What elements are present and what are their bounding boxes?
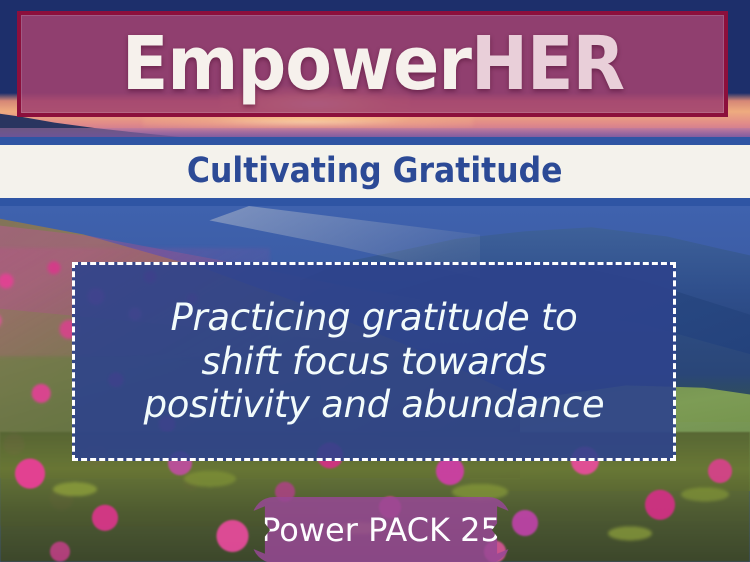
brand-wordmark: EmpowerHER xyxy=(121,27,623,101)
power-pack-label: Power PACK 25 xyxy=(261,514,501,546)
quote-text: Practicing gratitude to shift focus towa… xyxy=(144,296,605,427)
slide-canvas: EmpowerHER Cultivating Gratitude Practic… xyxy=(0,0,750,562)
brand-word-empower: Empower xyxy=(121,21,470,107)
brand-word-her: HER xyxy=(470,21,623,107)
subtitle-text: Cultivating Gratitude xyxy=(187,154,563,189)
brand-title-plate: EmpowerHER xyxy=(17,11,728,117)
subtitle-band: Cultivating Gratitude xyxy=(0,137,750,206)
power-pack-tag[interactable]: Power PACK 25 xyxy=(252,497,510,562)
header-banner: EmpowerHER xyxy=(0,0,750,137)
quote-box: Practicing gratitude to shift focus towa… xyxy=(72,262,676,461)
water-strip xyxy=(0,128,750,137)
